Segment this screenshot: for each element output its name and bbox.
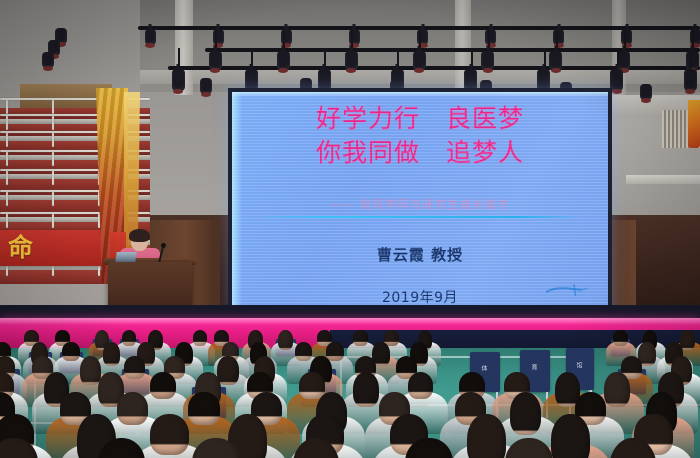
audience-member-head [680,330,695,350]
audience-member-head [613,330,628,346]
screen-edge-glow-top [232,92,608,97]
spotlight-drop-hook [324,48,326,66]
stage-spotlight [172,69,185,91]
audience-member-head [604,372,630,407]
audience-member-head [193,330,208,346]
spotlight-drop-hook [419,30,421,48]
stage-spotlight [610,69,623,91]
stage-spotlight [200,78,212,94]
audience-member-head [353,372,379,407]
audience-member-head [217,356,238,385]
spotlight-drop-hook [624,30,626,48]
bleacher-railing [6,190,8,206]
audience-member-head [124,356,145,379]
audience-member-head [188,392,219,425]
chair-label: 馆 [576,360,583,369]
audience-member-head [150,414,189,455]
chair-label: 体 [481,364,488,373]
spotlight-lens [278,68,288,73]
audience-member-head [510,392,541,435]
bleacher-railing [6,131,8,147]
projection-screen[interactable]: 好学力行 良医梦 你我同做 追梦人 —— 校风学风与研究生成长成才 曹云霞 教授… [232,92,608,310]
spotlight-drop-hook [544,48,546,66]
spotlight-drop-hook [488,30,490,48]
microphone-icon [161,243,166,248]
bleacher-railing [52,212,54,228]
stage-spotlight [686,51,699,70]
spotlight-yoke [421,24,424,30]
spotlight-lens [483,68,493,73]
spotlight-lens [612,89,622,94]
bleacher-railing [6,212,8,228]
spotlight-lens [551,68,561,73]
chair-label: 育 [531,362,538,371]
stage-spotlight [549,51,562,70]
spotlight-lens [641,98,651,103]
spotlight-yoke [149,24,152,30]
stage-spotlight [42,52,54,68]
stage-spotlight [481,51,494,70]
spotlight-drop-hook [215,30,217,48]
bleacher-railing [52,114,54,130]
gold-drape-right [688,100,700,148]
stage-spotlight [277,51,290,70]
stage-spotlight [640,84,652,100]
screen-edge-glow-left [232,92,242,310]
spotlight-lens [173,89,183,94]
audience-member-head [122,330,137,346]
spotlight-yoke [489,24,492,30]
stage-spotlight [684,69,697,91]
bleacher-railing [52,131,54,147]
bleacher-railing [6,169,8,185]
banner-character: 命 [8,234,33,262]
spotlight-drop-hook [351,30,353,48]
audience-member-head [117,392,148,425]
spotlight-drop-hook [283,30,285,48]
spotlight-lens [685,89,695,94]
spotlight-drop-hook [617,48,619,66]
audience-member-head [278,330,293,350]
spotlight-drop-hook [556,30,558,48]
stage-spotlight [413,51,426,70]
audience-member-head [326,342,343,361]
audience-member-head [295,342,312,361]
stage-spotlight [145,29,156,45]
bleacher-railing [6,114,8,130]
bleacher-railing [52,98,54,114]
audience-member-head [408,372,434,399]
audience-member-head [103,342,120,366]
bleacher-railing [52,169,54,185]
spotlight-yoke [353,24,356,30]
bleacher-railing [98,212,100,228]
audience-member-head [467,414,506,458]
spotlight-drop-hook [251,48,253,66]
stage-spotlight [345,51,358,70]
spotlight-drop-hook [397,48,399,66]
spotlight-lens [43,66,53,71]
right-ledge [626,175,700,184]
audience-member-head [62,342,79,361]
bleacher-railing [6,98,8,114]
audience-member-head [353,330,368,346]
spotlight-yoke [217,24,220,30]
laptop [115,252,136,262]
spotlight-drop-hook [178,48,180,66]
bleacher-railing [52,150,54,166]
spotlight-drop-hook [692,30,694,48]
stage-skirt-highlight [0,318,700,325]
bleacher-railing [6,150,8,166]
spotlight-lens [210,68,220,73]
stage-spotlight [617,51,630,70]
photo-scene: 命 好学力行 良医梦 你我同做 追梦人 —— 校风学风与研究生成长成才 曹云霞 … [0,0,700,458]
spotlight-lens [414,68,424,73]
spotlight-drop-hook [471,48,473,66]
spotlight-lens [201,92,211,97]
stage-spotlight [209,51,222,70]
speaker-hair [129,229,150,242]
bleacher-railing [52,190,54,206]
spotlight-drop-hook [690,48,692,66]
spotlight-lens [145,43,155,48]
spotlight-lens [346,68,356,73]
audience-member-head [150,372,176,399]
screen-scanlines [232,92,608,310]
audience-member-head [80,356,101,385]
audience-member-head [551,414,590,458]
spotlight-yoke [285,24,288,30]
